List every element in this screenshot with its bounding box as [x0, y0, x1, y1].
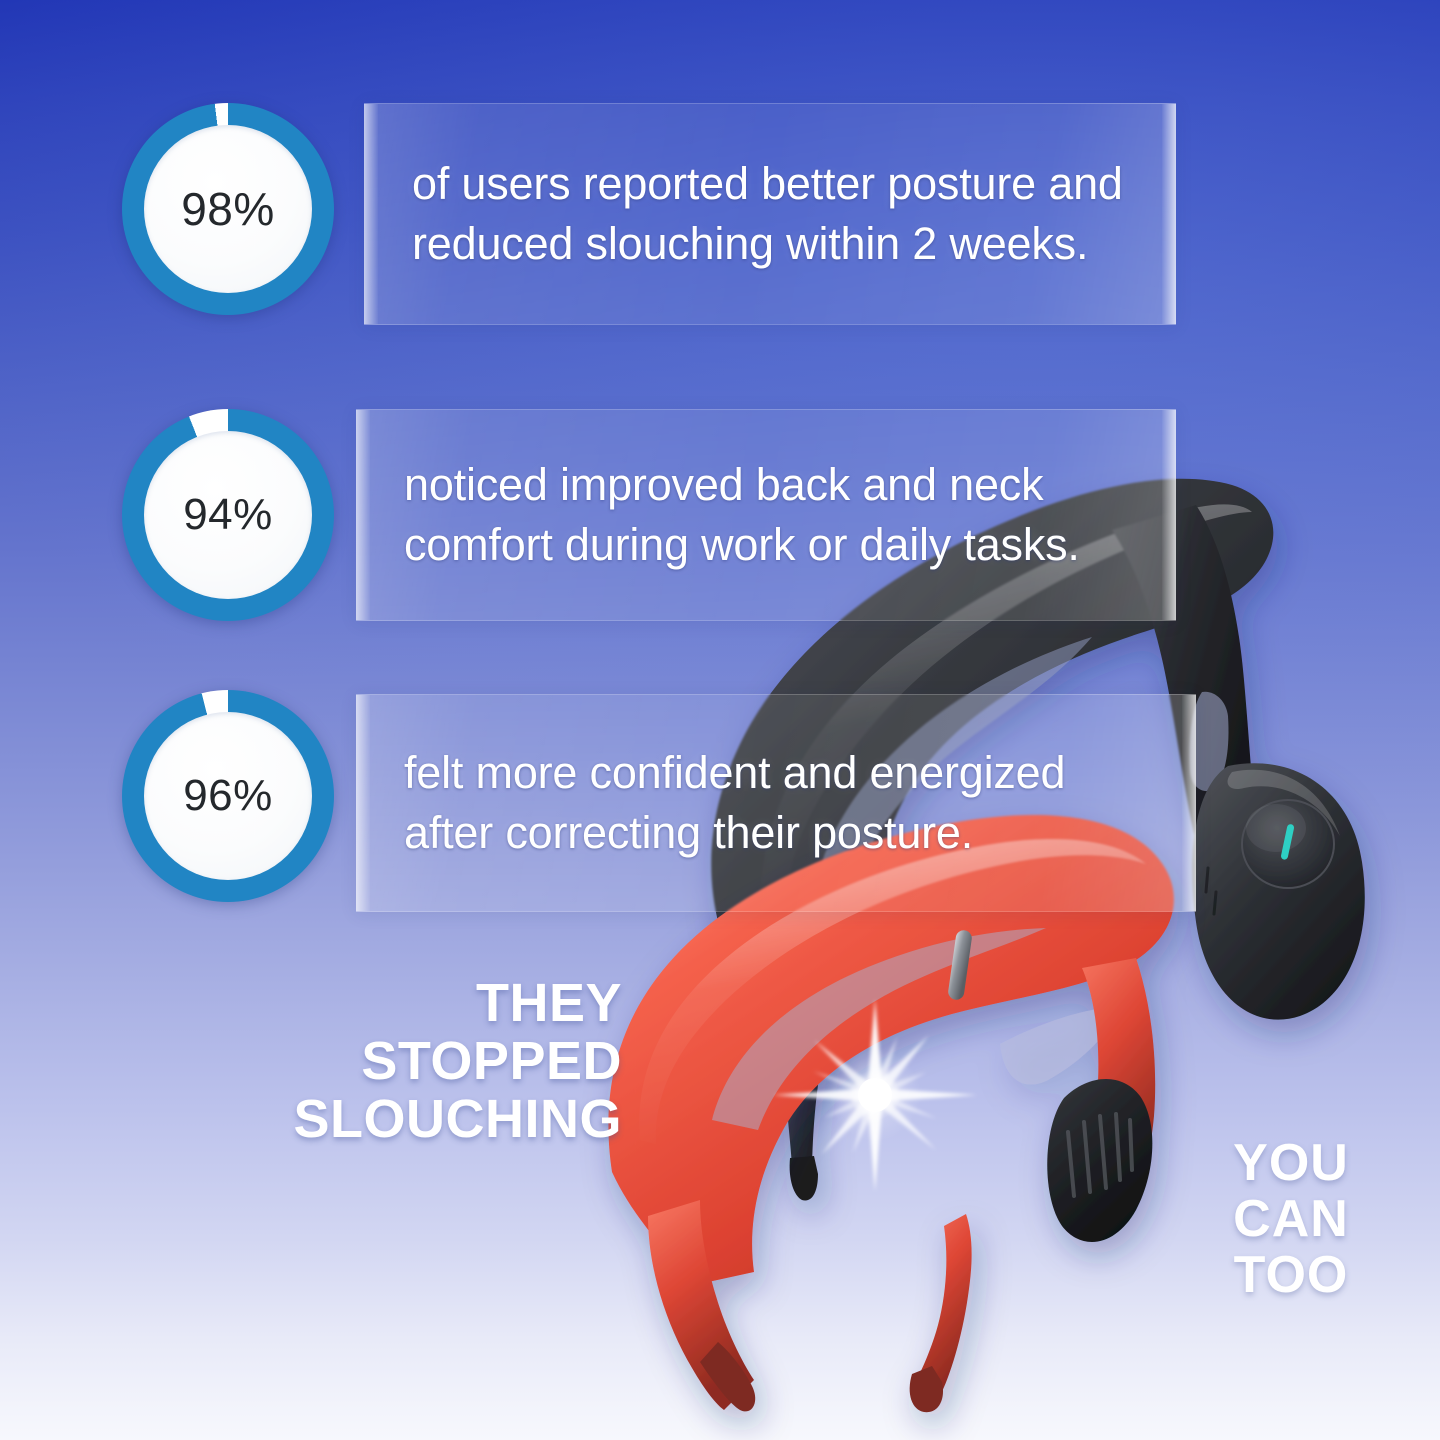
- cta-line-1: YOU: [1196, 1135, 1386, 1191]
- stat-row-1: 98% of users reported better posture and…: [0, 103, 1440, 328]
- stat-row-2: 94% noticed improved back and neck comfo…: [0, 409, 1440, 631]
- donut-hole-2: 94%: [144, 431, 312, 599]
- donut-chart-1: 98%: [122, 103, 334, 315]
- donut-percent-label-3: 96%: [183, 774, 273, 818]
- stat-row-3: 96% felt more confident and energized af…: [0, 690, 1440, 915]
- cta-line-2: CAN: [1196, 1191, 1386, 1247]
- headline-line-3: SLOUCHING: [232, 1091, 622, 1149]
- donut-chart-2: 94%: [122, 409, 334, 621]
- stat-text-2: noticed improved back and neck comfort d…: [404, 455, 1146, 575]
- donut-hole-3: 96%: [144, 712, 312, 880]
- glass-panel-1: of users reported better posture and red…: [364, 103, 1176, 325]
- donut-hole-1: 98%: [144, 125, 312, 293]
- glass-panel-2: noticed improved back and neck comfort d…: [356, 409, 1176, 621]
- cta-you-can-too: YOU CAN TOO: [1196, 1135, 1386, 1303]
- cta-line-3: TOO: [1196, 1247, 1386, 1303]
- donut-chart-3: 96%: [122, 690, 334, 902]
- stat-text-1: of users reported better posture and red…: [412, 154, 1146, 274]
- headline-line-1: THEY: [232, 975, 622, 1033]
- headline-they-stopped-slouching: THEY STOPPED SLOUCHING: [232, 975, 622, 1148]
- donut-percent-label-1: 98%: [181, 186, 275, 232]
- donut-percent-label-2: 94%: [183, 493, 273, 537]
- headline-line-2: STOPPED: [232, 1033, 622, 1091]
- stat-text-3: felt more confident and energized after …: [404, 743, 1166, 863]
- glass-panel-3: felt more confident and energized after …: [356, 694, 1196, 912]
